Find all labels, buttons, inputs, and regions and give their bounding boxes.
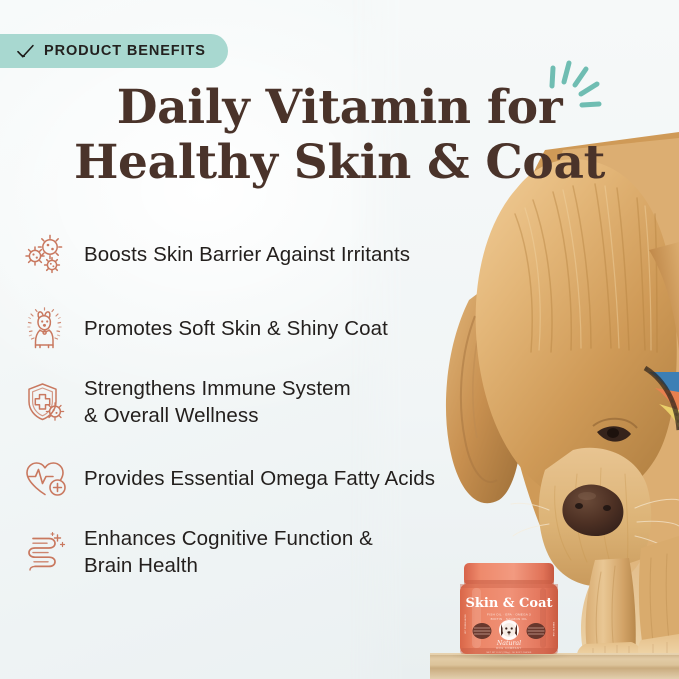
list-item: Enhances Cognitive Function &Brain Healt… [22,526,502,580]
jar-brand-sub: DOG COMPANY [496,647,521,650]
promo-canvas: Skin & Coat FISH OIL · EPA · OMEGA 3 BIO… [0,0,679,679]
list-item-label: Enhances Cognitive Function &Brain Healt… [84,526,373,579]
benefits-list: Boosts Skin Barrier Against Irritants [22,228,502,580]
heart-pulse-icon [22,456,68,502]
shiny-dog-icon [22,306,68,352]
check-icon [16,42,35,61]
list-item-label: Boosts Skin Barrier Against Irritants [84,242,410,269]
list-item-label: Promotes Soft Skin & Shiny Coat [84,316,388,343]
jar-ingredients-line-1: FISH OIL · EPA · OMEGA 3 [487,613,531,617]
jar-brand-script: Natural [496,640,521,647]
list-item: Boosts Skin Barrier Against Irritants [22,228,502,282]
jar-product-name: Skin & Coat [465,596,552,611]
intestine-icon [22,530,68,576]
germs-icon [22,232,68,278]
badge-label: PRODUCT BENEFITS [44,43,206,59]
shield-plus-icon [22,380,68,426]
list-item: Strengthens Immune System& Overall Welln… [22,376,502,430]
sparkle-burst-icon [540,58,614,124]
list-item-label: Strengthens Immune System& Overall Welln… [84,376,351,429]
headline-line-1: Daily Vitamin for [117,80,563,135]
list-item-label: Provides Essential Omega Fatty Acids [84,466,435,493]
list-item: Promotes Soft Skin & Shiny Coat [22,302,502,356]
headline-line-2: Healthy Skin & Coat [26,137,653,190]
product-benefits-badge: PRODUCT BENEFITS [0,34,228,68]
jar-net-weight: NET WT 8 OZ (226g) · 90 SOFT CHEWS [486,652,531,654]
product-jar: Skin & Coat FISH OIL · EPA · OMEGA 3 BIO… [456,560,562,658]
list-item: Provides Essential Omega Fatty Acids [22,452,502,506]
jar-side-text-left: VET FORMULATED [464,614,467,634]
jar-side-text-right: MADE IN USA [552,622,555,637]
